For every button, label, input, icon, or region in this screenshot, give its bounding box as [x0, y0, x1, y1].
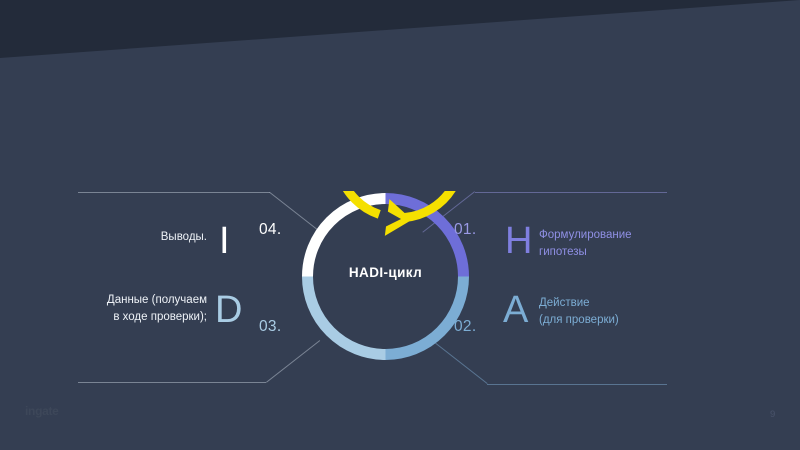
step-number-04: 04. [259, 221, 281, 239]
ingate-logo: ingate [25, 404, 59, 418]
step-label-01: Формулирование гипотезы [539, 227, 699, 260]
ring-center-label: HADI-цикл [300, 265, 471, 280]
ring-segment-03 [308, 277, 386, 355]
acronym-letter-h: H [505, 222, 532, 260]
step-label-04: Выводы. [78, 229, 207, 246]
page-number: 9 [770, 409, 775, 420]
step-label-03: Данные (получаем в ходе проверки); [60, 292, 207, 325]
step-number-03: 03. [259, 318, 281, 336]
ring-segment-02 [386, 277, 464, 355]
top-decorative-band [0, 0, 800, 80]
step-number-02: 02. [454, 318, 476, 336]
acronym-letter-a: A [503, 291, 528, 329]
acronym-letter-i: I [219, 222, 230, 260]
step-label-02: Действие (для проверки) [539, 295, 699, 328]
step-number-01: 01. [454, 221, 476, 239]
acronym-letter-d: D [215, 291, 242, 329]
slide-canvas: HADI-цикл 01. 02. 03. 04. H A D I Формул… [0, 0, 800, 450]
